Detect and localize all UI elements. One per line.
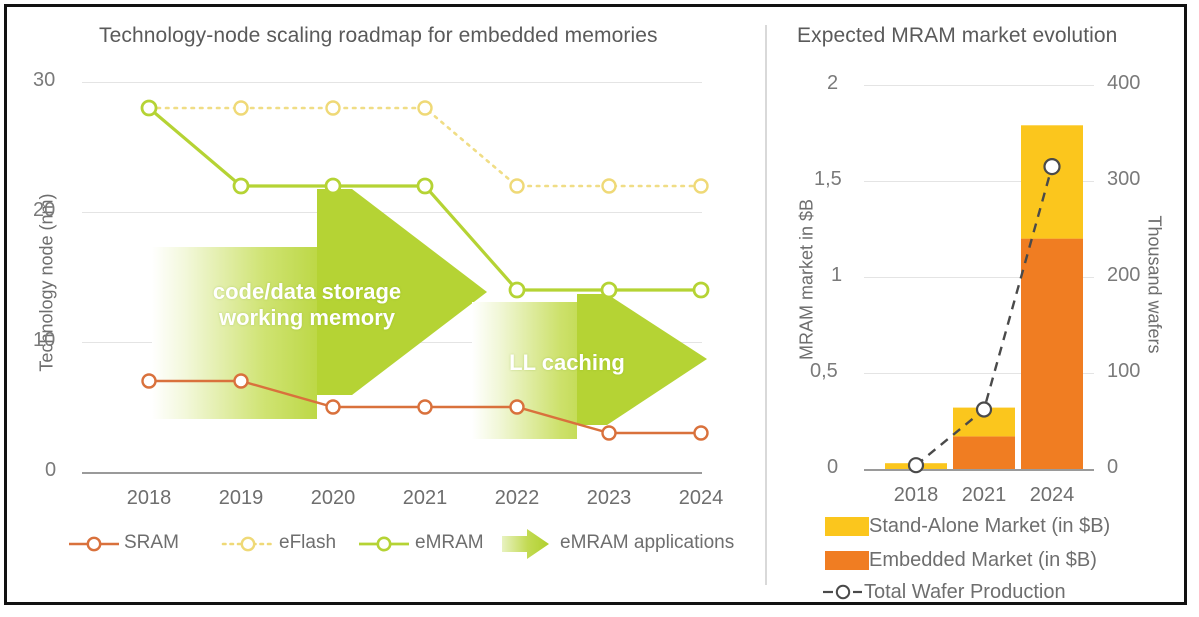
- left-xtick-2021: 2021: [385, 487, 465, 510]
- legend-icon-emram: [359, 538, 409, 550]
- legend-label-stand-alone-market: Stand-Alone Market (in $B): [869, 515, 1110, 538]
- legend-label-emram: eMRAM: [415, 532, 484, 554]
- bar-2021-embedded: [953, 436, 1015, 469]
- left-xtick-2024: 2024: [661, 487, 741, 510]
- left-chart-panel: Technology-node scaling roadmap for embe…: [7, 7, 767, 608]
- legend-label-emram-applications: eMRAM applications: [560, 532, 734, 554]
- legend-label-sram: SRAM: [124, 532, 179, 554]
- legend-icon-sram: [69, 538, 119, 550]
- left-xtick-2022: 2022: [477, 487, 557, 510]
- legend-swatch-embedded: [825, 551, 869, 570]
- series-sram: [143, 375, 708, 440]
- legend-icon-emram-applications-arrow: [502, 529, 549, 559]
- left-chart-series: [7, 7, 767, 608]
- legend-icon-eflash: [223, 538, 273, 550]
- legend-icon-total-wafer-production: [823, 586, 862, 598]
- right-xtick-2024: 2024: [1012, 484, 1092, 507]
- right-chart-panel: Expected MRAM market evolution MRAM mark…: [767, 7, 1190, 608]
- figure-frame: Technology-node scaling roadmap for embe…: [4, 4, 1187, 605]
- series-emram: [142, 101, 708, 297]
- left-xtick-2020: 2020: [293, 487, 373, 510]
- legend-swatch-stand-alone: [825, 517, 869, 536]
- left-xtick-2019: 2019: [201, 487, 281, 510]
- left-xtick-2023: 2023: [569, 487, 649, 510]
- bar-2024: [1021, 125, 1083, 469]
- legend-label-eflash: eFlash: [279, 532, 336, 554]
- left-xtick-2018: 2018: [109, 487, 189, 510]
- bar-2024-standalone: [1021, 125, 1083, 238]
- legend-label-total-wafer-production: Total Wafer Production: [864, 581, 1066, 604]
- bar-2024-embedded: [1021, 239, 1083, 469]
- legend-label-embedded-market: Embedded Market (in $B): [869, 549, 1097, 572]
